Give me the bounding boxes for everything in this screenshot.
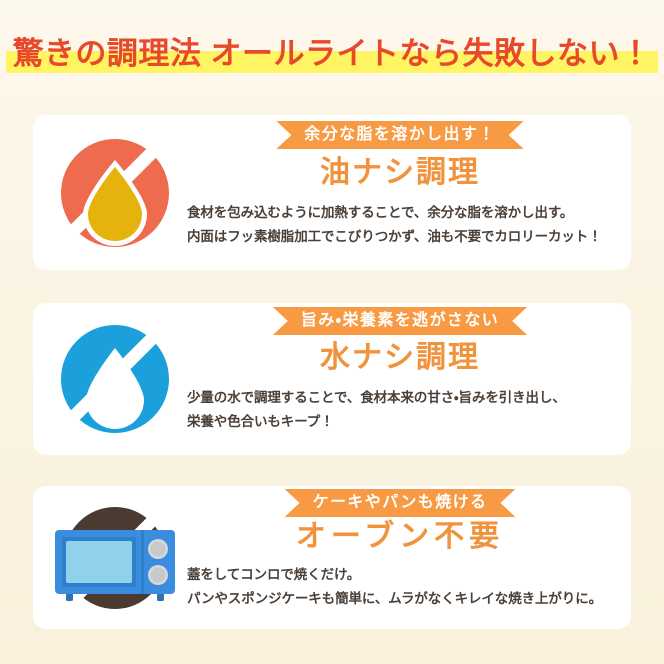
description-line: 栄養や色合いもキープ！ — [187, 410, 615, 434]
card-content: ケーキやパンも焼ける オーブン不要 蓋をしてコンロで焼くだけ。 パンやスポンジケ… — [181, 486, 619, 629]
no-oven-icon — [45, 496, 185, 620]
no-water-icon — [54, 318, 176, 440]
page-title-text: 驚きの調理法 オールライトなら失敗しない！ — [12, 36, 651, 71]
ribbon-label: 旨み・栄養素を逃がさない — [273, 307, 527, 335]
icon-slot — [45, 128, 185, 258]
description-line: パンやスポンジケーキも簡単に、ムラがなくキレイな焼き上がりに。 — [187, 587, 615, 611]
card-content: 旨み・栄養素を逃がさない 水ナシ調理 少量の水で調理することで、食材本来の甘さ・… — [181, 303, 619, 455]
feature-description: 蓋をしてコンロで焼くだけ。 パンやスポンジケーキも簡単に、ムラがなくキレイな焼き… — [187, 563, 615, 611]
feature-heading: オーブン不要 — [181, 520, 619, 555]
icon-slot — [39, 490, 191, 626]
description-line: 蓋をしてコンロで焼くだけ。 — [187, 563, 615, 587]
no-oil-icon — [54, 132, 176, 254]
feature-card-no-oil: 余分な脂を溶かし出す！ 油ナシ調理 食材を包み込むように加熱することで、余分な脂… — [33, 115, 631, 270]
page-title-banner: 驚きの調理法 オールライトなら失敗しない！ — [0, 26, 664, 84]
feature-card-no-water: 旨み・栄養素を逃がさない 水ナシ調理 少量の水で調理することで、食材本来の甘さ・… — [33, 303, 631, 455]
microwave-glyph — [55, 530, 175, 601]
feature-heading: 油ナシ調理 — [181, 156, 619, 191]
feature-description: 少量の水で調理することで、食材本来の甘さ・旨みを引き出し、 栄養や色合いもキープ… — [187, 386, 615, 434]
description-line: 少量の水で調理することで、食材本来の甘さ・旨みを引き出し、 — [187, 386, 615, 410]
feature-heading: 水ナシ調理 — [181, 341, 619, 376]
description-line: 内面はフッ素樹脂加工でこびりつかず、油も不要でカロリーカット！ — [187, 225, 615, 249]
icon-slot — [45, 314, 185, 444]
page-title: 驚きの調理法 オールライトなら失敗しない！ — [6, 35, 657, 75]
card-content: 余分な脂を溶かし出す！ 油ナシ調理 食材を包み込むように加熱することで、余分な脂… — [181, 115, 619, 270]
feature-card-no-oven: ケーキやパンも焼ける オーブン不要 蓋をしてコンロで焼くだけ。 パンやスポンジケ… — [33, 486, 631, 629]
description-line: 食材を包み込むように加熱することで、余分な脂を溶かし出す。 — [187, 201, 615, 225]
feature-description: 食材を包み込むように加熱することで、余分な脂を溶かし出す。 内面はフッ素樹脂加工… — [187, 201, 615, 249]
ribbon-label: 余分な脂を溶かし出す！ — [276, 121, 523, 149]
ribbon-label: ケーキやパンも焼ける — [285, 489, 516, 517]
